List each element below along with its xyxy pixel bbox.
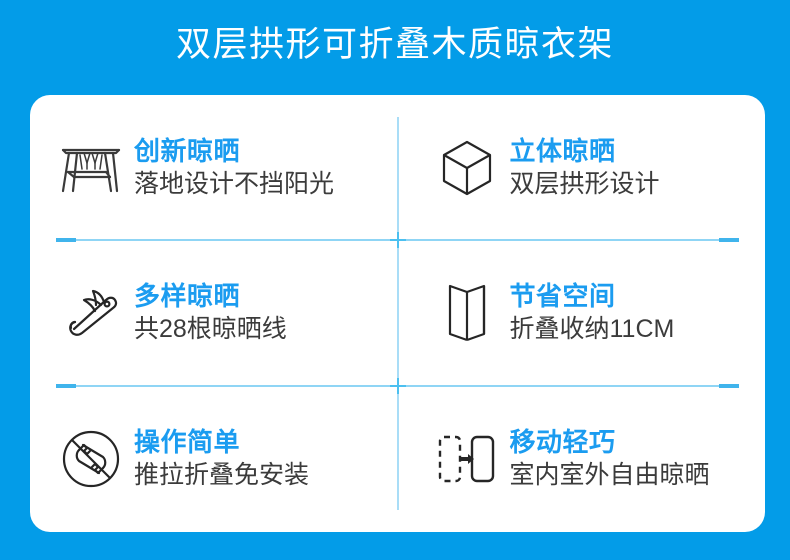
feature-subtitle: 推拉折叠免安装 bbox=[134, 458, 309, 492]
feature-heading: 立体晾晒 bbox=[510, 135, 660, 167]
divider-accent-left bbox=[56, 238, 76, 242]
feature-subtitle: 共28根晾晒线 bbox=[134, 312, 287, 346]
feature-heading: 创新晾晒 bbox=[134, 135, 334, 167]
feature-cell-1: 创新晾晒 落地设计不挡阳光 bbox=[30, 95, 398, 241]
feature-text-6: 移动轻巧 室内室外自由晾晒 bbox=[510, 426, 710, 492]
divider-accent-right bbox=[719, 384, 739, 388]
move-object-icon bbox=[434, 426, 500, 492]
drying-rack-icon bbox=[58, 135, 124, 201]
feature-subtitle: 室内室外自由晾晒 bbox=[510, 458, 710, 492]
feature-cell-6: 移动轻巧 室内室外自由晾晒 bbox=[398, 386, 766, 532]
feature-card: 创新晾晒 落地设计不挡阳光 立体晾晒 bbox=[30, 95, 765, 532]
feature-text-1: 创新晾晒 落地设计不挡阳光 bbox=[134, 135, 334, 201]
feature-heading: 操作简单 bbox=[134, 426, 309, 458]
feature-text-5: 操作简单 推拉折叠免安装 bbox=[134, 426, 309, 492]
feature-cell-3: 多样晾晒 共28根晾晒线 bbox=[30, 241, 398, 387]
feature-subtitle: 双层拱形设计 bbox=[510, 167, 660, 201]
feature-subtitle: 落地设计不挡阳光 bbox=[134, 167, 334, 201]
folded-panel-icon bbox=[434, 280, 500, 346]
no-tools-icon bbox=[58, 426, 124, 492]
column-divider bbox=[397, 117, 399, 510]
divider-accent-left bbox=[56, 384, 76, 388]
feature-text-4: 节省空间 折叠收纳11CM bbox=[510, 280, 675, 346]
cube-icon bbox=[434, 135, 500, 201]
swiss-army-knife-icon bbox=[58, 280, 124, 346]
feature-text-2: 立体晾晒 双层拱形设计 bbox=[510, 135, 660, 201]
product-feature-poster: 双层拱形可折叠木质晾衣架 bbox=[0, 0, 790, 560]
feature-heading: 节省空间 bbox=[510, 280, 675, 312]
feature-cell-5: 操作简单 推拉折叠免安装 bbox=[30, 386, 398, 532]
page-title: 双层拱形可折叠木质晾衣架 bbox=[0, 22, 790, 68]
feature-heading: 移动轻巧 bbox=[510, 426, 710, 458]
feature-text-3: 多样晾晒 共28根晾晒线 bbox=[134, 280, 287, 346]
feature-subtitle: 折叠收纳11CM bbox=[510, 312, 675, 346]
feature-heading: 多样晾晒 bbox=[134, 280, 287, 312]
divider-accent-right bbox=[719, 238, 739, 242]
feature-cell-4: 节省空间 折叠收纳11CM bbox=[398, 241, 766, 387]
feature-cell-2: 立体晾晒 双层拱形设计 bbox=[398, 95, 766, 241]
